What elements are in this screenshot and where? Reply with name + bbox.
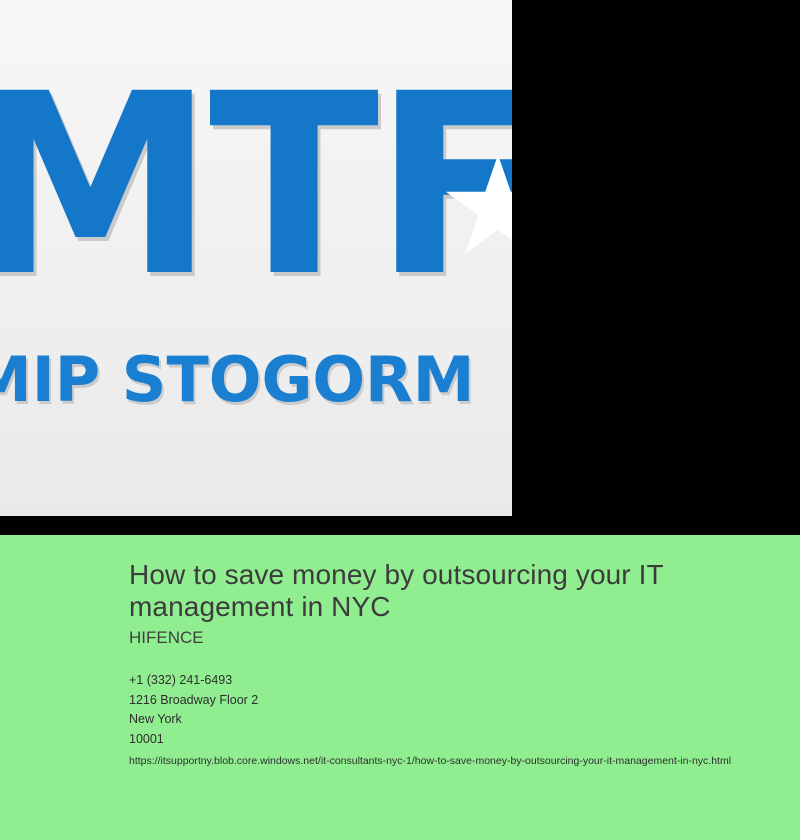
phone-number: +1 (332) 241-6493 <box>129 671 769 691</box>
address-line: 1216 Broadway Floor 2 <box>129 691 769 711</box>
brand-name: HIFENCE <box>129 627 769 649</box>
info-panel: How to save money by outsourcing your IT… <box>0 535 800 840</box>
hero-image: MTFG MIP STOGORM <box>0 0 800 535</box>
city-name: New York <box>129 710 769 730</box>
info-content: How to save money by outsourcing your IT… <box>129 559 769 769</box>
star-icon <box>440 150 512 266</box>
page-title: How to save money by outsourcing your IT… <box>129 559 769 623</box>
zip-code: 10001 <box>129 730 769 750</box>
logo-card: MTFG MIP STOGORM <box>0 0 512 516</box>
page-root: MTFG MIP STOGORM How to save money by ou… <box>0 0 800 840</box>
logo-backdrop: MTFG MIP STOGORM <box>0 0 512 516</box>
logo-subtitle: MIP STOGORM <box>0 345 512 415</box>
source-url[interactable]: https://itsupportny.blob.core.windows.ne… <box>129 754 769 769</box>
logo-wordmark: MTFG <box>0 36 512 336</box>
